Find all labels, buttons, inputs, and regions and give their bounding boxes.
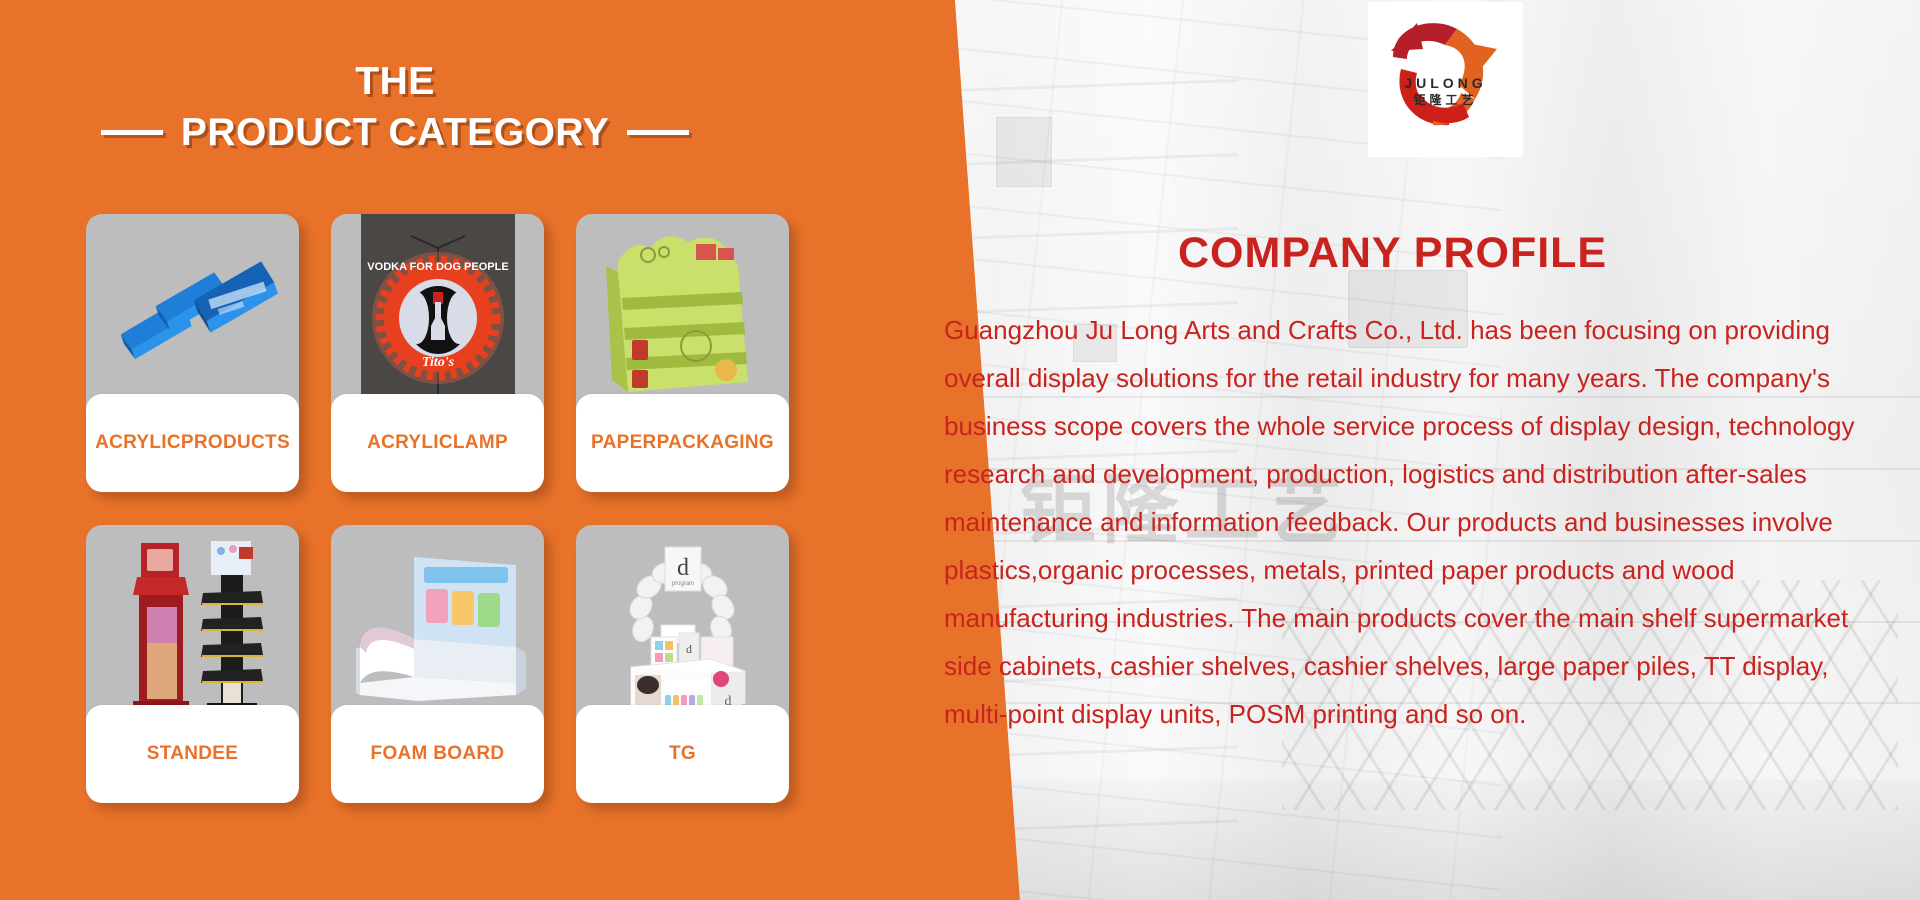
label-line-1: ACRYLIC xyxy=(95,431,181,455)
product-category-heading: THE PRODUCT CATEGORY xyxy=(0,62,790,152)
ground-area xyxy=(820,780,1920,900)
label-line-1: ACRYLIC xyxy=(367,431,453,455)
product-card-label: ACRYLIC LAMP xyxy=(331,394,544,492)
product-category-grid: ACRYLIC PRODUCTS xyxy=(86,214,789,803)
label-line-2: PRODUCTS xyxy=(181,431,290,455)
label-line-1: TG xyxy=(669,742,696,766)
page-root: 钜隆工艺 JULONG 钜隆工艺 COMPANY PROFILE Guangzh… xyxy=(0,0,1920,900)
foam-board-counter-shelf-photo xyxy=(331,525,544,725)
label-line-2: PACKAGING xyxy=(657,431,774,455)
floor-standee-displays-photo xyxy=(86,525,299,725)
product-card-label: PAPER PACKAGING xyxy=(576,394,789,492)
heading-line-1: THE xyxy=(0,62,790,101)
heading-line-2: PRODUCT CATEGORY xyxy=(181,113,609,152)
company-profile-body: Guangzhou Ju Long Arts and Crafts Co., L… xyxy=(944,306,1879,738)
product-card-label: STANDEE xyxy=(86,705,299,803)
svg-text:Tito's: Tito's xyxy=(421,355,454,370)
vodka-for-dog-people-titos-neon-sign-photo: VODKA FOR DOG PEOPLE Tito's xyxy=(331,214,544,414)
svg-text:VODKA FOR DOG PEOPLE: VODKA FOR DOG PEOPLE xyxy=(367,261,508,273)
acrylic-tray-display-photo xyxy=(86,214,299,414)
label-line-1: STANDEE xyxy=(147,742,238,766)
svg-text:program: program xyxy=(672,581,694,587)
product-card-acrylic-products[interactable]: ACRYLIC PRODUCTS xyxy=(86,214,299,492)
air-conditioner-unit-icon xyxy=(996,117,1052,187)
company-profile-title: COMPANY PROFILE xyxy=(1178,229,1607,278)
green-cardboard-tiered-display-photo xyxy=(576,214,789,414)
svg-text:d: d xyxy=(677,555,689,581)
product-card-paper-packaging[interactable]: PAPER PACKAGING xyxy=(576,214,789,492)
label-line-2: LAMP xyxy=(453,431,508,455)
svg-text:d: d xyxy=(686,642,692,656)
heading-rule-right xyxy=(627,130,689,135)
product-card-standee[interactable]: STANDEE xyxy=(86,525,299,803)
heading-rule-left xyxy=(101,130,163,135)
product-card-label: FOAM BOARD xyxy=(331,705,544,803)
product-card-label: ACRYLIC PRODUCTS xyxy=(86,394,299,492)
julong-logo: JULONG 钜隆工艺 xyxy=(1368,2,1523,157)
product-card-tg[interactable]: d program d xyxy=(576,525,789,803)
julong-logo-mark xyxy=(1371,5,1521,155)
product-card-label: TG xyxy=(576,705,789,803)
product-card-acrylic-lamp[interactable]: VODKA FOR DOG PEOPLE Tito's ACRYLIC LAMP xyxy=(331,214,544,492)
label-line-1: FOAM BOARD xyxy=(371,742,505,766)
d-program-cosmetics-tg-display-photo: d program d xyxy=(576,525,789,725)
air-conditioner-unit-icon xyxy=(886,27,948,73)
product-card-foam-board[interactable]: FOAM BOARD xyxy=(331,525,544,803)
label-line-1: PAPER xyxy=(591,431,657,455)
